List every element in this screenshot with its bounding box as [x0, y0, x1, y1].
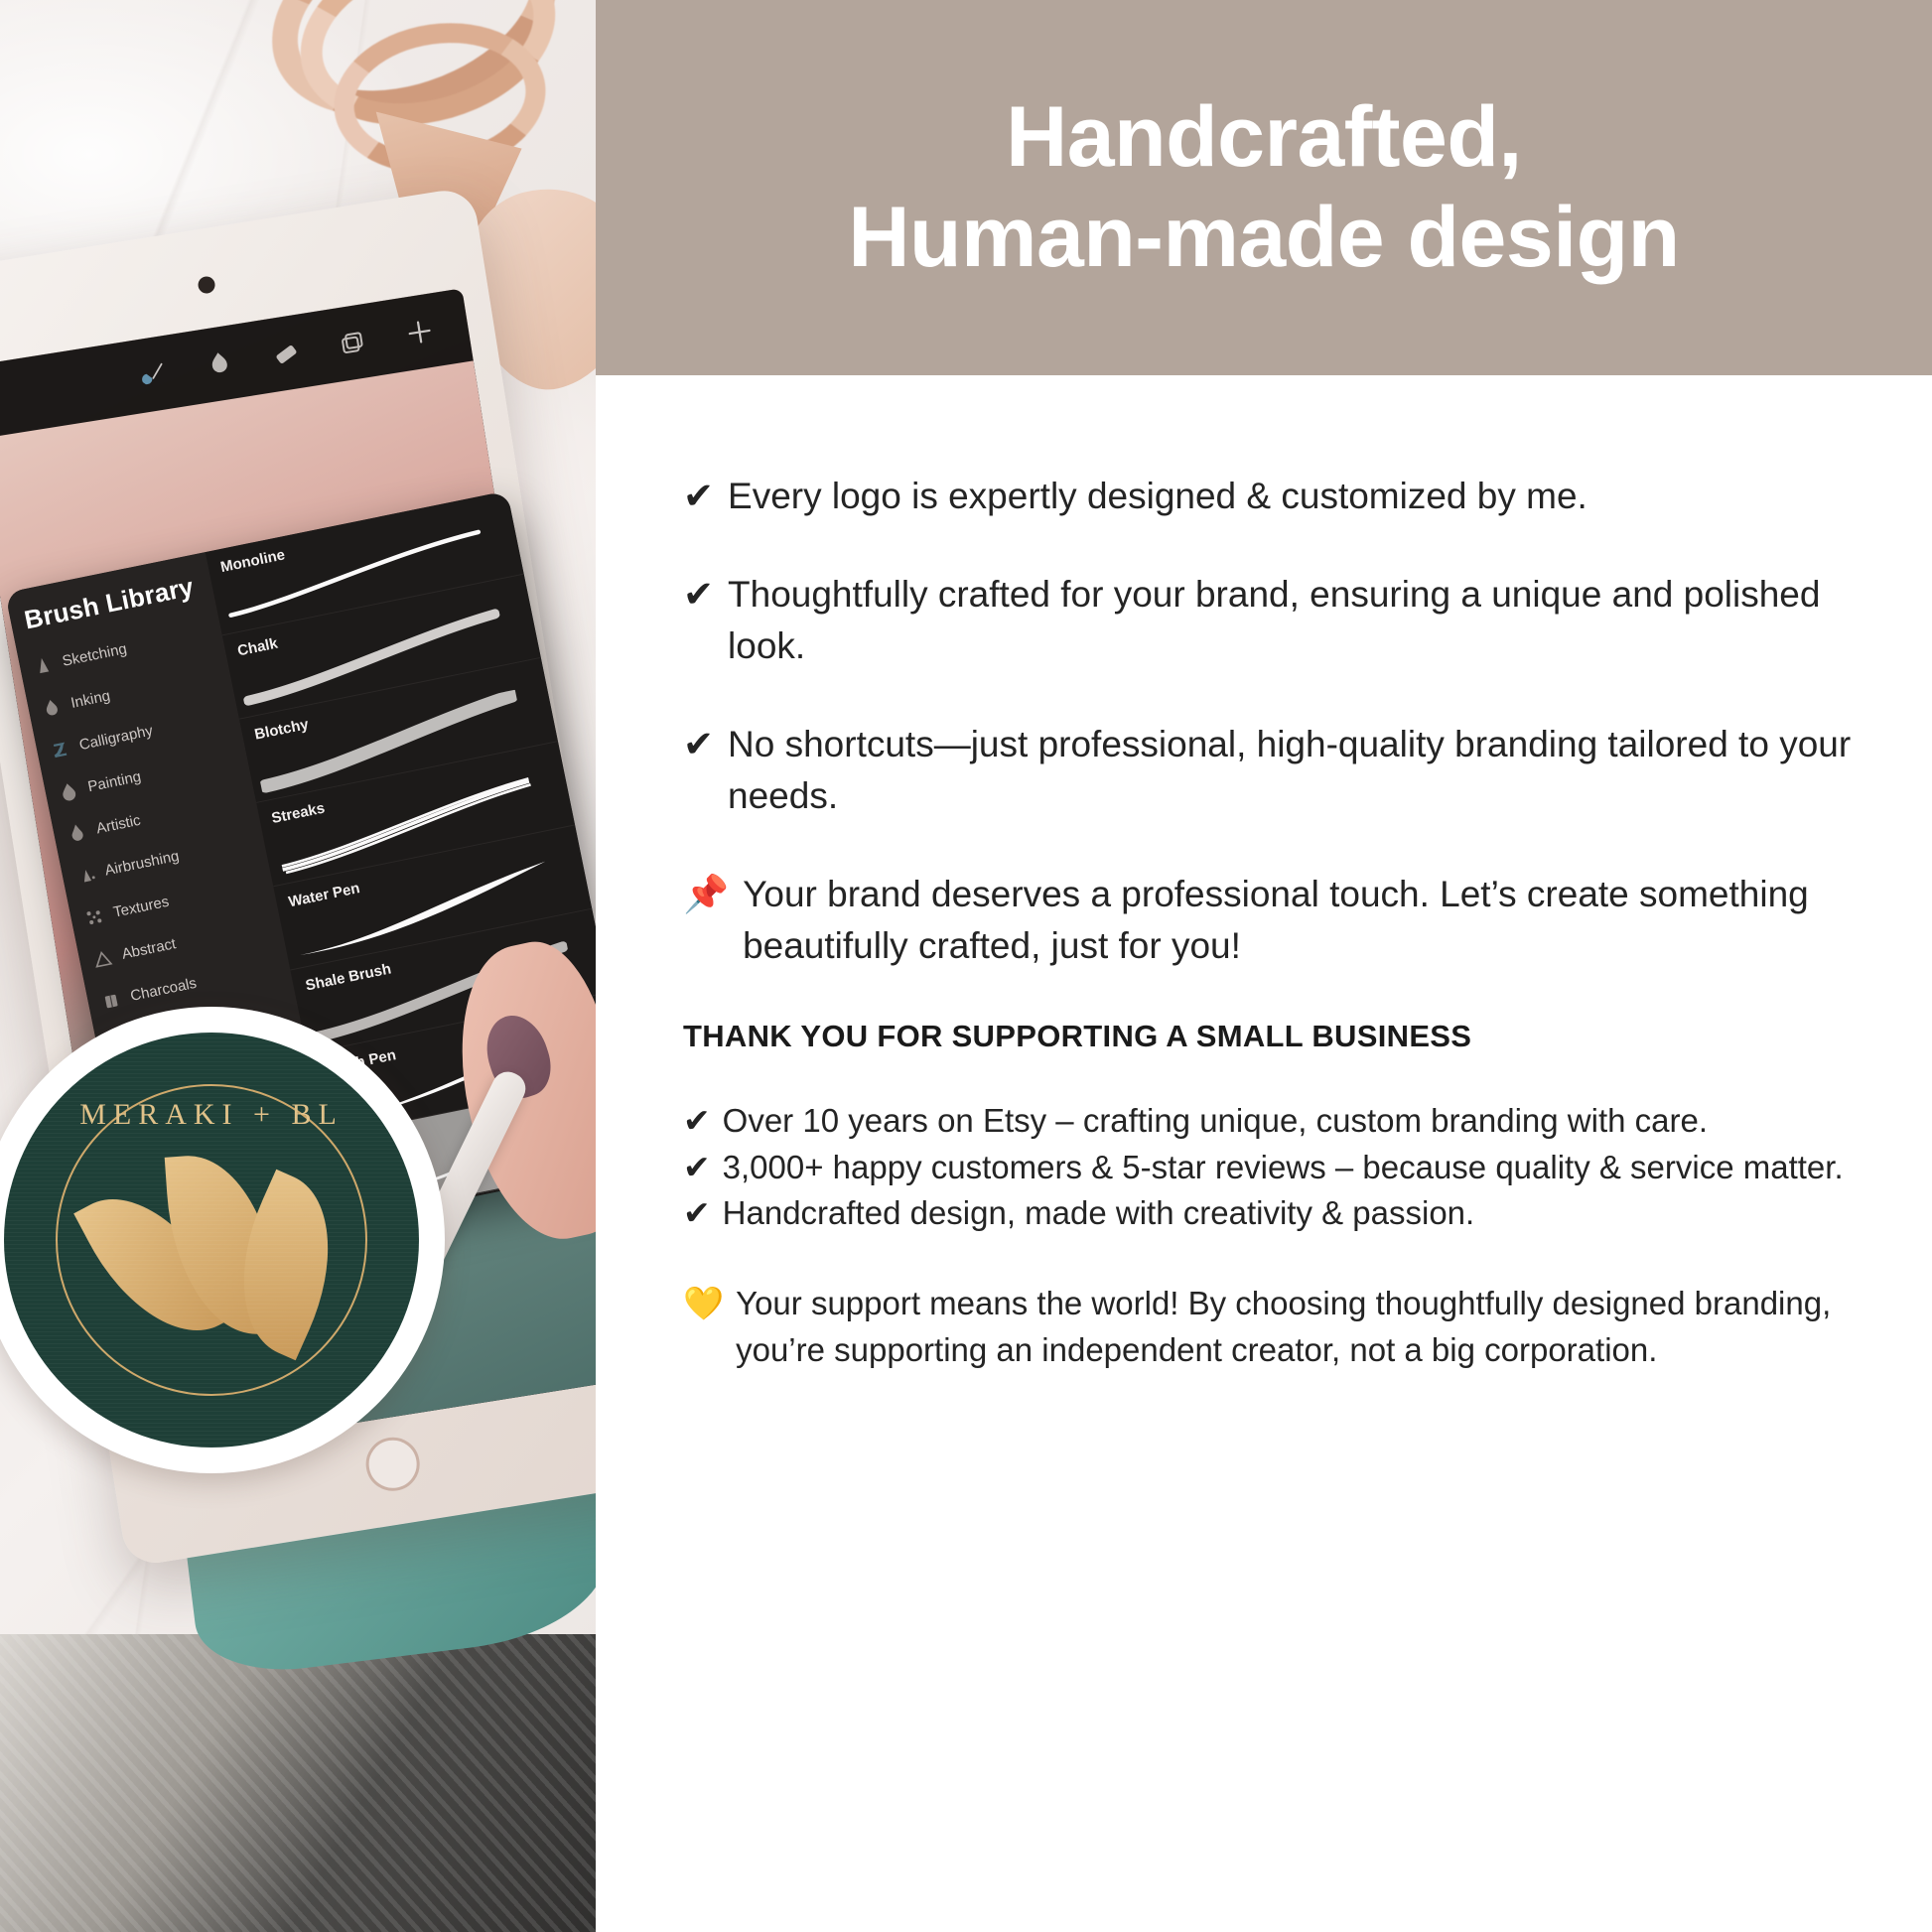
product-photo-panel: Brush Library Sketching Inking Calligrap… — [0, 0, 596, 1932]
ink-drop-icon — [39, 695, 65, 721]
check-mark-icon: ✔ — [683, 1145, 711, 1191]
brush-category-label: Calligraphy — [77, 722, 154, 754]
brush-category-label: Sketching — [61, 640, 128, 670]
brush-category-label: Artistic — [95, 812, 142, 838]
triangle-icon — [89, 945, 115, 971]
credential-item: ✔ Handcrafted design, made with creativi… — [683, 1190, 1861, 1237]
logo-inner-ring — [56, 1084, 367, 1396]
yellow-heart-emoji-icon: 💛 — [683, 1281, 724, 1327]
credential-item: ✔ 3,000+ happy customers & 5-star review… — [683, 1145, 1861, 1191]
brush-category-label: Painting — [86, 768, 143, 795]
benefit-text: No shortcuts—just professional, high-qua… — [728, 719, 1861, 823]
pushpin-emoji-icon: 📌 — [683, 869, 729, 921]
eraser-icon[interactable] — [269, 337, 303, 370]
check-mark-icon: ✔ — [683, 1190, 711, 1237]
brush-category-label: Airbrushing — [103, 848, 181, 880]
logo-leaf-right — [208, 1170, 363, 1361]
brush-category-label: Textures — [112, 894, 171, 921]
brush-category-label: Inking — [69, 687, 112, 712]
benefit-item: ✔ Every logo is expertly designed & cust… — [683, 471, 1861, 523]
header-banner: Handcrafted, Human-made design — [596, 0, 1932, 375]
logo-arc-text: MERAKI + BL MERAKI + BL — [4, 1033, 419, 1448]
check-mark-icon: ✔ — [683, 1098, 711, 1145]
charcoal-block-icon — [98, 988, 124, 1014]
credential-text: Handcrafted design, made with creativity… — [723, 1190, 1475, 1237]
logo-arc-visible-text: MERAKI + BL — [79, 1098, 344, 1131]
pencil-tip-icon — [30, 653, 56, 679]
calligraphy-nib-icon — [48, 737, 73, 762]
airbrush-icon — [72, 862, 98, 888]
logo-brand-name: MERAKI + BL — [4, 1033, 242, 1038]
marketing-listing-image: Brush Library Sketching Inking Calligrap… — [0, 0, 1932, 1932]
textures-dots-icon — [81, 903, 107, 929]
credential-text: 3,000+ happy customers & 5-star reviews … — [723, 1145, 1844, 1191]
credentials-list: ✔ Over 10 years on Etsy – crafting uniqu… — [683, 1098, 1861, 1238]
brush-category-label: Abstract — [120, 935, 177, 963]
bottom-photo-strip — [0, 1634, 596, 1932]
closing-message: 💛 Your support means the world! By choos… — [683, 1281, 1861, 1374]
page-title: Handcrafted, Human-made design — [848, 87, 1679, 289]
artistic-drop-icon — [65, 820, 90, 846]
brush-icon[interactable] — [136, 357, 170, 391]
check-mark-icon: ✔ — [683, 719, 714, 771]
ipad-camera — [197, 275, 215, 294]
page-title-line-2: Human-made design — [848, 190, 1679, 285]
benefit-text: Your brand deserves a professional touch… — [743, 869, 1861, 973]
brand-logo-sticker: MERAKI + BL MERAKI + BL — [0, 1007, 445, 1473]
content-body: ✔ Every logo is expertly designed & cust… — [596, 375, 1932, 1374]
smudge-icon[interactable] — [203, 346, 236, 380]
credential-text: Over 10 years on Etsy – crafting unique,… — [723, 1098, 1708, 1145]
brush-category-label: Charcoals — [129, 975, 199, 1005]
credential-item: ✔ Over 10 years on Etsy – crafting uniqu… — [683, 1098, 1861, 1145]
paint-drop-icon — [56, 778, 81, 804]
add-brush-icon[interactable] — [402, 315, 436, 348]
logo-disc: MERAKI + BL MERAKI + BL — [4, 1033, 419, 1448]
page-title-line-1: Handcrafted, — [1006, 89, 1522, 185]
closing-text: Your support means the world! By choosin… — [736, 1281, 1861, 1374]
thanks-heading: THANK YOU FOR SUPPORTING A SMALL BUSINES… — [683, 1019, 1861, 1054]
benefit-item: ✔ No shortcuts—just professional, high-q… — [683, 719, 1861, 823]
benefit-item: ✔ Thoughtfully crafted for your brand, e… — [683, 569, 1861, 673]
check-mark-icon: ✔ — [683, 471, 714, 523]
benefit-text: Thoughtfully crafted for your brand, ens… — [728, 569, 1861, 673]
layers-icon[interactable] — [336, 326, 369, 359]
logo-leaf-center — [165, 1151, 281, 1340]
check-mark-icon: ✔ — [683, 569, 714, 621]
content-panel: Handcrafted, Human-made design ✔ Every l… — [596, 0, 1932, 1932]
logo-leaf-left — [73, 1169, 236, 1360]
benefit-text: Every logo is expertly designed & custom… — [728, 471, 1861, 523]
benefit-item-cta: 📌 Your brand deserves a professional tou… — [683, 869, 1861, 973]
